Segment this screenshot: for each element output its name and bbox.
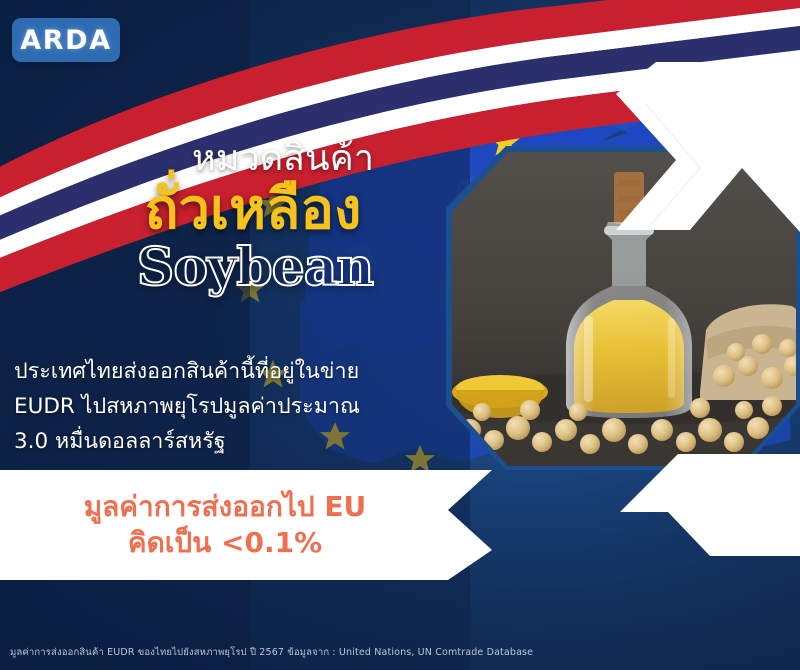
body-copy-line-2: EUDR ไปสหภาพยุโรปมูลค่าประมาณ bbox=[14, 390, 444, 425]
arda-logo-text: ARDA bbox=[20, 27, 111, 54]
product-name-english: Soybean bbox=[0, 242, 470, 294]
body-copy: ประเทศไทยส่งออกสินค้านี้ที่อยู่ในข่าย EU… bbox=[14, 355, 444, 459]
export-share-callout: มูลค่าการส่งออกไป EU คิดเป็น <0.1% bbox=[0, 470, 492, 580]
headline-block: หมวดสินค้า ถั่วเหลือง Soybean bbox=[0, 140, 470, 294]
source-footnote: มูลค่าการส่งออกสินค้า EUDR ของไทยไปยังสห… bbox=[10, 645, 790, 660]
arda-logo[interactable]: ARDA bbox=[12, 18, 120, 62]
infographic-poster: ARDA หมวดสินค้า ถั่วเหลือง Soybean ประเท… bbox=[0, 0, 800, 670]
callout-line-1: มูลค่าการส่งออกไป EU bbox=[84, 489, 409, 525]
body-copy-line-3: 3.0 หมื่นดอลลาร์สหรัฐ bbox=[14, 425, 444, 460]
product-name-thai: ถั่วเหลือง bbox=[0, 181, 470, 238]
callout-line-2: คิดเป็น <0.1% bbox=[128, 525, 364, 561]
body-copy-line-1: ประเทศไทยส่งออกสินค้านี้ที่อยู่ในข่าย bbox=[14, 355, 444, 390]
kicker-label: หมวดสินค้า bbox=[0, 140, 470, 179]
